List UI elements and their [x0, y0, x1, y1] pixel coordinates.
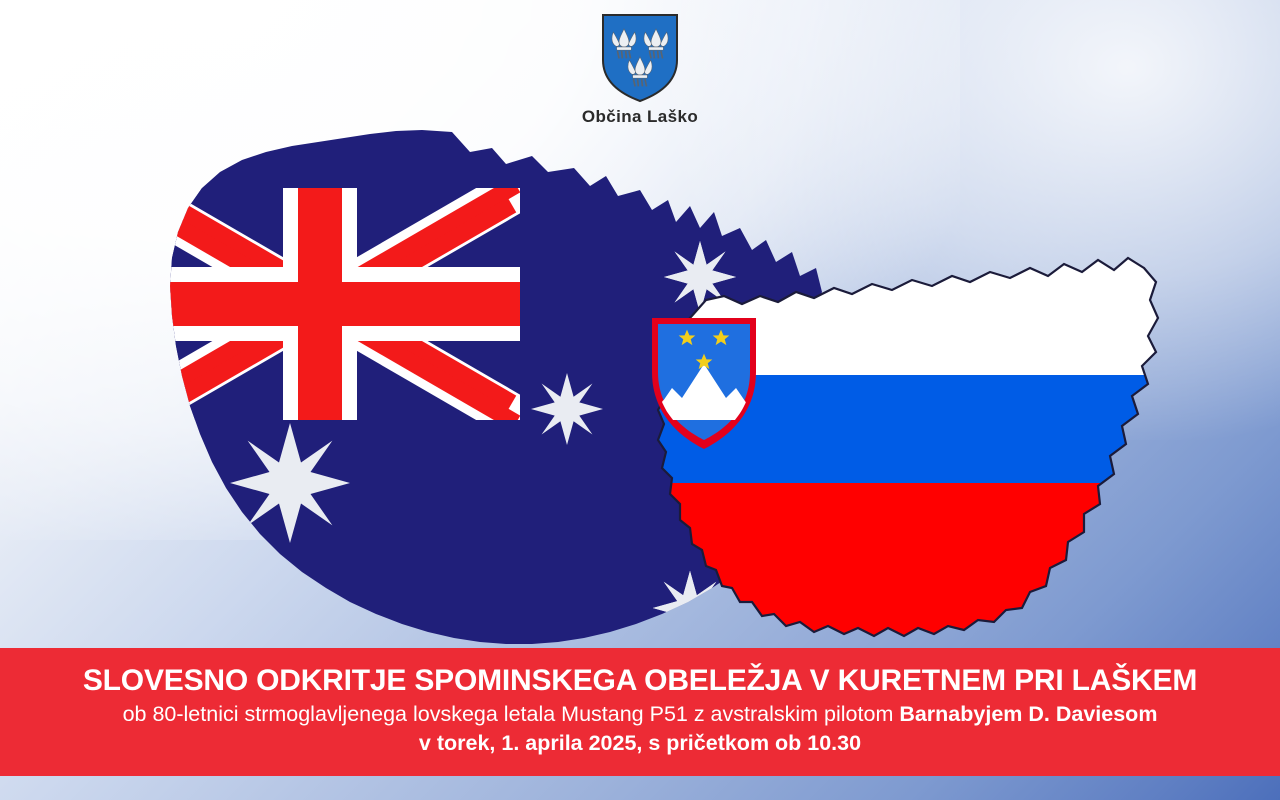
- banner-datetime: v torek, 1. aprila 2025, s pričetkom ob …: [18, 730, 1262, 758]
- announcement-banner: SLOVESNO ODKRITJE SPOMINSKEGA OBELEŽJA V…: [0, 648, 1280, 776]
- crest-block: Občina Laško: [0, 12, 1280, 127]
- banner-title: SLOVESNO ODKRITJE SPOMINSKEGA OBELEŽJA V…: [18, 665, 1262, 697]
- crux-beta-star: [531, 373, 603, 445]
- crest-label: Občina Laško: [0, 107, 1280, 127]
- commonwealth-star: [230, 423, 350, 543]
- banner-subtitle-plain: ob 80-letnici strmoglavljenega lovskega …: [123, 702, 900, 726]
- union-jack: [120, 178, 520, 430]
- lasko-coat-of-arms-icon: [599, 12, 681, 104]
- poster-root: Občina Laško SLOVESNO ODKRITJE SPOMINSKE…: [0, 0, 1280, 800]
- banner-subtitle: ob 80-letnici strmoglavljenega lovskega …: [18, 701, 1262, 729]
- australia-bottom-stars: [653, 571, 727, 645]
- banner-subtitle-pilot: Barnabyjem D. Daviesom: [899, 702, 1157, 726]
- crux-epsilon-star: [653, 571, 727, 645]
